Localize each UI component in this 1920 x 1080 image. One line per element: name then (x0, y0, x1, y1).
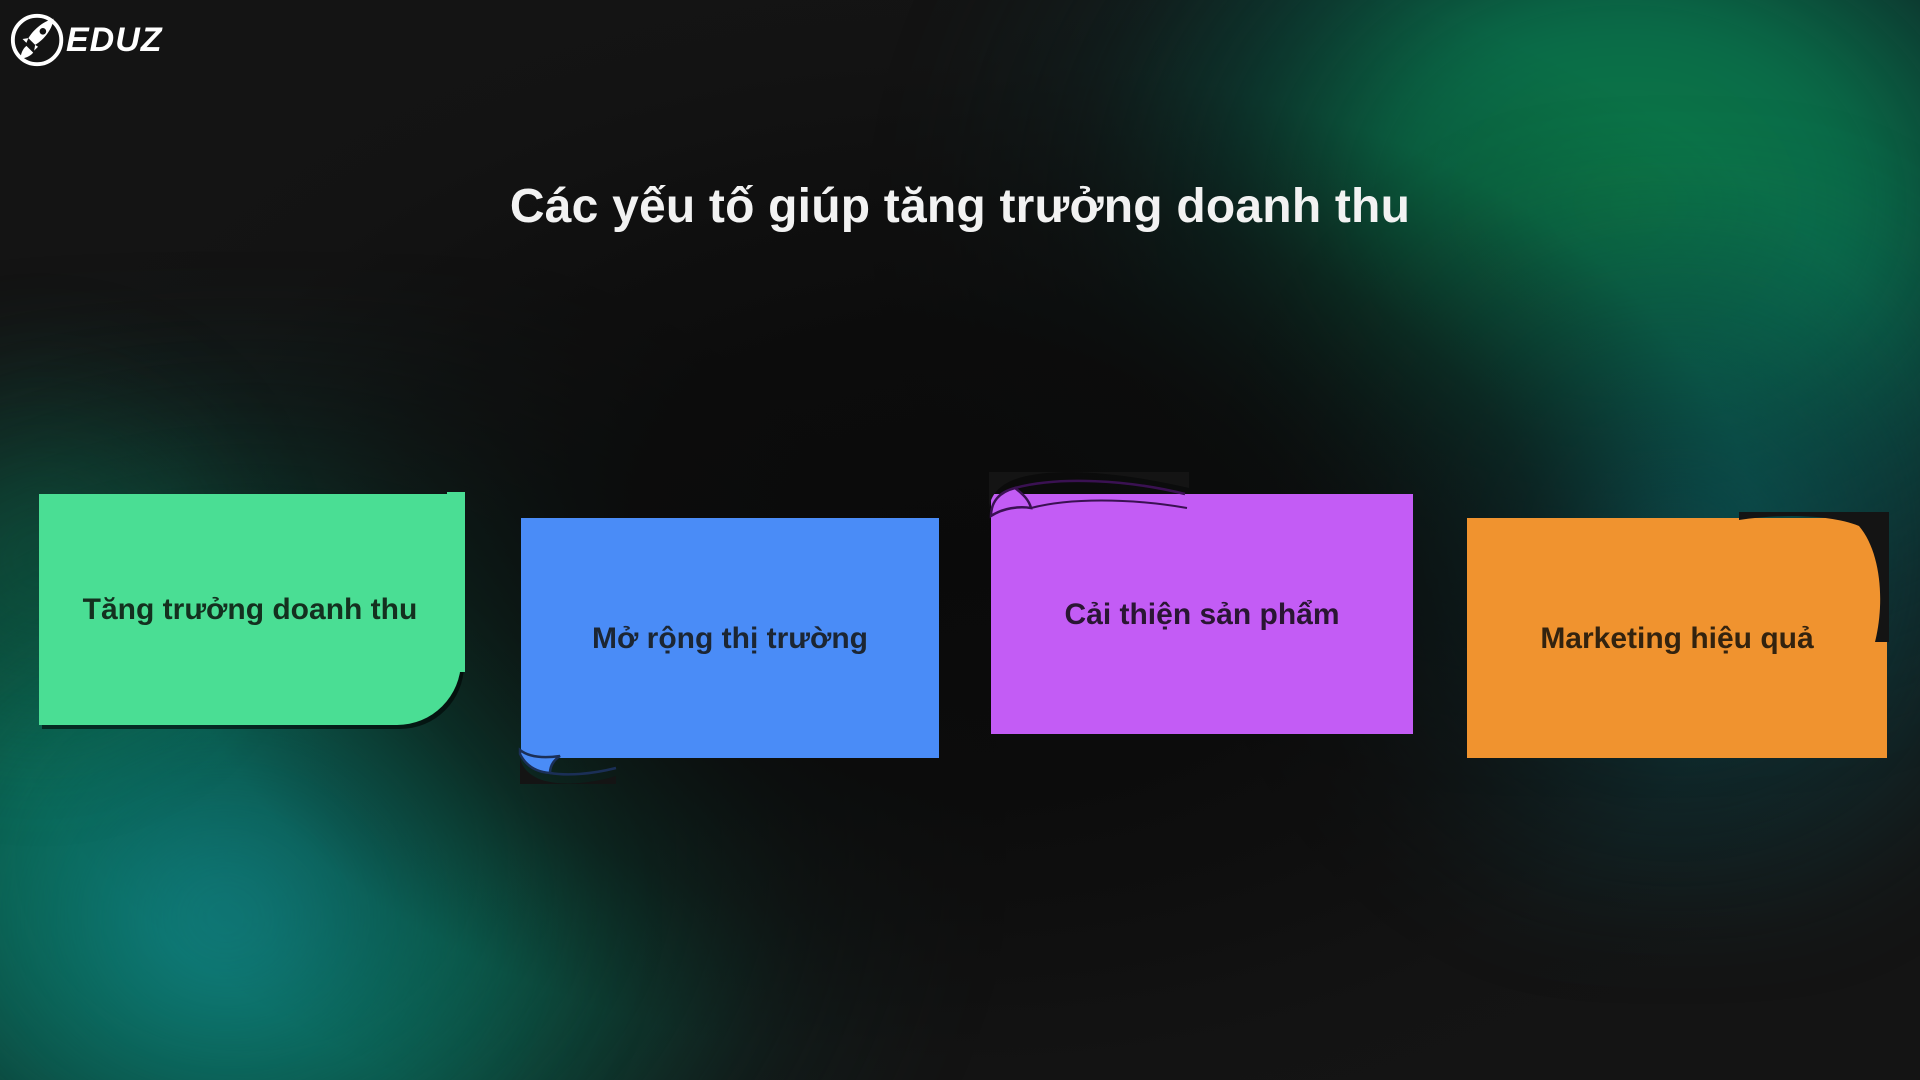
card-revenue-growth[interactable]: Tăng trưởng doanh thu (39, 494, 461, 725)
card-effective-marketing-label: Marketing hiệu quả (1540, 619, 1813, 658)
card-product-improvement-label: Cải thiện sản phẩm (1064, 595, 1339, 634)
card-market-expansion[interactable]: Mở rộng thị trường (521, 518, 939, 758)
card-effective-marketing[interactable]: Marketing hiệu quả (1467, 518, 1887, 758)
factor-cards-row: Tăng trưởng doanh thu Mở rộng thị trường… (0, 0, 1920, 1080)
card-market-expansion-label: Mở rộng thị trường (592, 619, 868, 658)
slide-canvas: EDUZ Các yếu tố giúp tăng trưởng doanh t… (0, 0, 1920, 1080)
card-product-improvement[interactable]: Cải thiện sản phẩm (991, 494, 1413, 734)
rocket-in-circle-icon (8, 9, 70, 71)
page-curl-bottom-left-icon (520, 688, 670, 784)
page-curl-top-left-icon (989, 472, 1189, 568)
card-revenue-growth-label: Tăng trưởng doanh thu (83, 590, 418, 629)
brand-logo[interactable]: EDUZ (8, 8, 194, 72)
page-title: Các yếu tố giúp tăng trưởng doanh thu (0, 178, 1920, 236)
brand-wordmark: EDUZ (66, 21, 163, 60)
